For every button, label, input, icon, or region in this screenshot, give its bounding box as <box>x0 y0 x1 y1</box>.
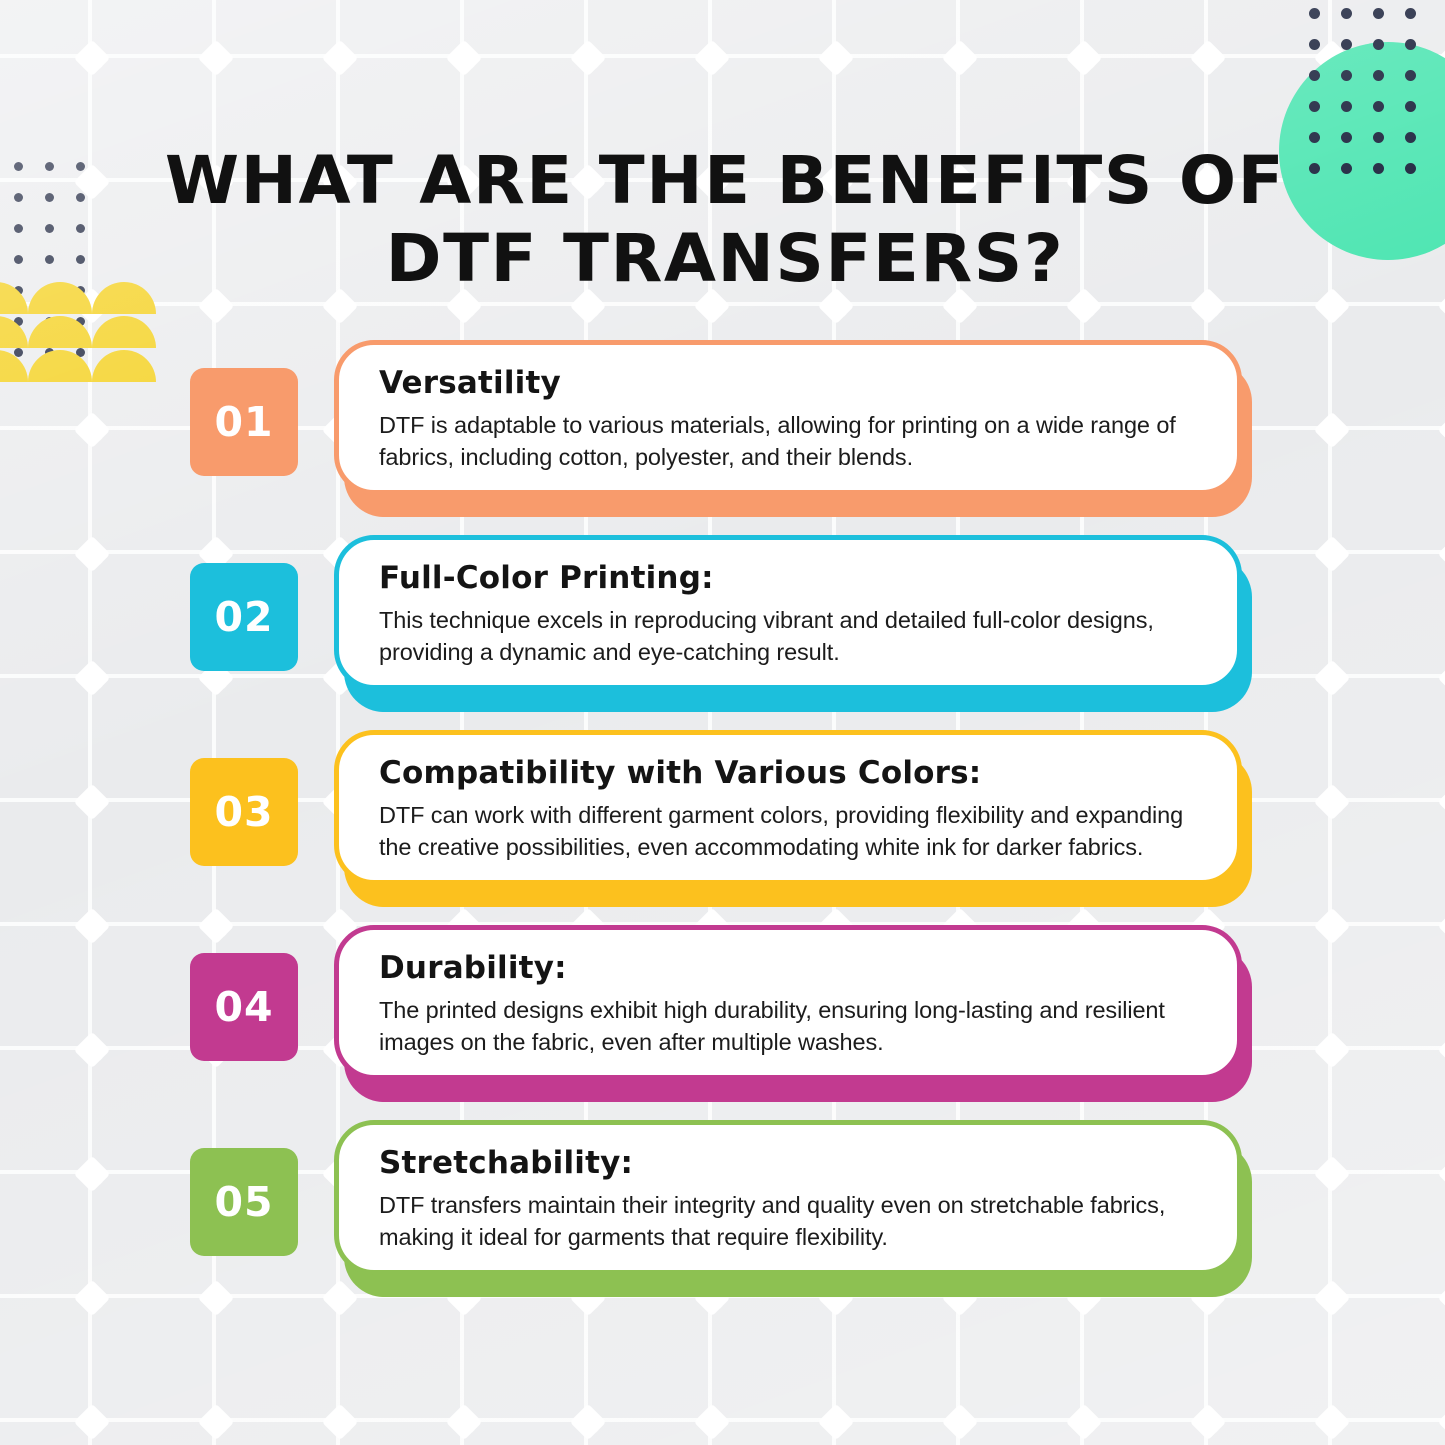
decorative-dot <box>1373 70 1384 81</box>
benefit-card: Durability:The printed designs exhibit h… <box>334 925 1252 1090</box>
decorative-dot <box>1373 163 1384 174</box>
benefit-number-badge: 05 <box>190 1148 298 1256</box>
decorative-dot <box>45 255 54 264</box>
benefit-number-badge: 03 <box>190 758 298 866</box>
benefit-item: 02Full-Color Printing:This technique exc… <box>0 535 1445 730</box>
benefit-item: 04Durability:The printed designs exhibit… <box>0 925 1445 1120</box>
decorative-dot <box>1405 101 1416 112</box>
decorative-dot <box>1373 101 1384 112</box>
benefit-description: DTF can work with different garment colo… <box>379 799 1203 863</box>
benefit-description: This technique excels in reproducing vib… <box>379 604 1203 668</box>
decorative-dot <box>14 224 23 233</box>
benefit-card-surface: Durability:The printed designs exhibit h… <box>334 925 1242 1080</box>
benefit-card: VersatilityDTF is adaptable to various m… <box>334 340 1252 505</box>
yellow-semicircle <box>28 282 92 314</box>
decorative-dot <box>1341 8 1352 19</box>
decorative-dot <box>1341 39 1352 50</box>
benefit-item: 03Compatibility with Various Colors:DTF … <box>0 730 1445 925</box>
decorative-dot <box>1341 163 1352 174</box>
benefit-item: 05Stretchability:DTF transfers maintain … <box>0 1120 1445 1315</box>
decorative-dot <box>14 193 23 202</box>
decorative-dot <box>1405 70 1416 81</box>
benefit-number-badge: 04 <box>190 953 298 1061</box>
decorative-dot <box>1405 163 1416 174</box>
decorative-dot <box>45 224 54 233</box>
benefit-heading: Full-Color Printing: <box>379 558 1203 598</box>
benefit-card: Stretchability:DTF transfers maintain th… <box>334 1120 1252 1285</box>
benefit-description: The printed designs exhibit high durabil… <box>379 994 1203 1058</box>
infographic-poster: WHAT ARE THE BENEFITS OF DTF TRANSFERS? … <box>0 0 1445 1445</box>
benefit-card-surface: Full-Color Printing:This technique excel… <box>334 535 1242 690</box>
benefit-number-badge: 02 <box>190 563 298 671</box>
decorative-dot <box>45 193 54 202</box>
decorative-dot <box>1373 39 1384 50</box>
yellow-semicircle <box>0 282 28 314</box>
decorative-dot <box>1405 39 1416 50</box>
decorative-dot <box>1309 70 1320 81</box>
decorative-dot <box>1309 8 1320 19</box>
decorative-dot <box>1373 8 1384 19</box>
decorative-dot <box>1373 132 1384 143</box>
benefit-card: Compatibility with Various Colors:DTF ca… <box>334 730 1252 895</box>
benefits-list: 01VersatilityDTF is adaptable to various… <box>0 340 1445 1315</box>
benefit-item: 01VersatilityDTF is adaptable to various… <box>0 340 1445 535</box>
decorative-dot <box>76 162 85 171</box>
decorative-dot <box>1405 132 1416 143</box>
decorative-dot <box>1341 70 1352 81</box>
page-title: WHAT ARE THE BENEFITS OF DTF TRANSFERS? <box>108 142 1342 298</box>
benefit-card: Full-Color Printing:This technique excel… <box>334 535 1252 700</box>
decorative-dot <box>1341 101 1352 112</box>
decorative-dot <box>1341 132 1352 143</box>
decorative-dot <box>1309 101 1320 112</box>
decorative-dot <box>76 255 85 264</box>
benefit-card-surface: VersatilityDTF is adaptable to various m… <box>334 340 1242 495</box>
decorative-dot <box>1405 8 1416 19</box>
decorative-dot <box>1309 39 1320 50</box>
decorative-dot <box>14 255 23 264</box>
decorative-dot <box>14 162 23 171</box>
benefit-description: DTF is adaptable to various materials, a… <box>379 409 1203 473</box>
decorative-dot <box>45 162 54 171</box>
benefit-heading: Versatility <box>379 363 1203 403</box>
benefit-heading: Compatibility with Various Colors: <box>379 753 1203 793</box>
decorative-dot <box>76 224 85 233</box>
benefit-heading: Durability: <box>379 948 1203 988</box>
benefit-description: DTF transfers maintain their integrity a… <box>379 1189 1203 1253</box>
benefit-card-surface: Stretchability:DTF transfers maintain th… <box>334 1120 1242 1275</box>
benefit-number-badge: 01 <box>190 368 298 476</box>
benefit-card-surface: Compatibility with Various Colors:DTF ca… <box>334 730 1242 885</box>
benefit-heading: Stretchability: <box>379 1143 1203 1183</box>
decorative-dot <box>76 193 85 202</box>
